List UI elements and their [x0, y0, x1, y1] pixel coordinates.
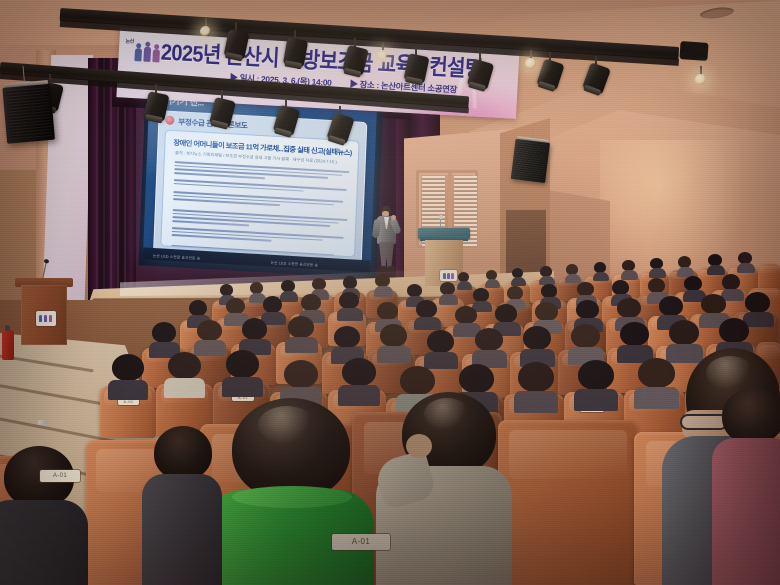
- audience-member-foreground-green: [214, 398, 364, 585]
- audience-member: [458, 272, 472, 288]
- audience-member: [242, 318, 271, 351]
- seat[interactable]: [498, 420, 638, 585]
- audience-member: [112, 354, 148, 394]
- audience-member: [152, 322, 180, 354]
- audience-member: [738, 252, 755, 271]
- seat[interactable]: [758, 264, 780, 290]
- audience-member: [427, 330, 458, 365]
- podium-emblem-icon: [440, 270, 457, 281]
- audience-member: [486, 270, 500, 286]
- audience-member: [566, 264, 581, 281]
- speaker-grille: [513, 141, 547, 180]
- city-logo-label: 논산: [125, 38, 134, 45]
- audience-member: [523, 326, 555, 362]
- speaker-cabinet: [2, 84, 55, 144]
- audience-member: [650, 258, 666, 276]
- audience-member: [226, 350, 263, 391]
- audience-member: [678, 256, 694, 274]
- seat-number-label: A-01: [333, 534, 389, 550]
- ceiling-light: [525, 58, 536, 69]
- audience-member: [375, 274, 393, 295]
- audience-member-foreground-far-right: [712, 388, 780, 585]
- seat-number-label: A-01: [41, 470, 79, 482]
- fire-extinguisher: [2, 330, 14, 360]
- ceiling-light-stem: [205, 18, 207, 26]
- audience-member: [540, 266, 555, 283]
- lectern-emblem-icon: [36, 311, 56, 326]
- audience-member: [416, 300, 441, 328]
- audience-member: [334, 326, 364, 360]
- audience-member: [380, 324, 411, 359]
- lectern-body: [21, 285, 67, 345]
- water-bottle: [38, 420, 47, 425]
- seat-number-plate: A-01: [40, 470, 80, 482]
- person-dark-jacket: [0, 500, 88, 585]
- seat-number-plate: A-01: [332, 534, 390, 550]
- speaker-cabinet: [511, 139, 550, 183]
- audience-member-foreground-left-mid: [146, 426, 216, 585]
- audience-member: [571, 324, 604, 361]
- presenter: [372, 206, 402, 272]
- person-maroon-top: [712, 438, 780, 585]
- person-head: [722, 388, 780, 444]
- person-head: [154, 426, 212, 480]
- audience-member: [475, 328, 507, 364]
- person-hand: [406, 434, 432, 458]
- audience-member: [512, 268, 526, 284]
- audience-member: [288, 316, 318, 350]
- person-jacket-collar: [232, 486, 352, 508]
- speaker-grille: [6, 87, 52, 140]
- floor-lectern: [18, 278, 70, 350]
- audience-member: [708, 254, 725, 273]
- audience-member: [342, 358, 380, 400]
- presenter-shoe-left: [379, 266, 386, 270]
- ceiling-light: [377, 50, 388, 61]
- ceiling-light: [695, 74, 706, 85]
- audience-member: [440, 282, 458, 303]
- audience-member: [594, 262, 609, 279]
- presenter-shoe-right: [388, 266, 395, 270]
- audience-member: [578, 360, 618, 404]
- presenter-trousers: [379, 242, 394, 268]
- lighting-truss-end-cap: [679, 41, 708, 61]
- audience-member: [638, 358, 679, 403]
- audience-member-foreground-beige: [380, 392, 506, 585]
- auditorium-photo: 들어가기 전... 부정수급 관련 언론보도 기사 장애인 어머니들이 보조금 …: [0, 0, 780, 585]
- person-dark-coat: [142, 474, 222, 585]
- audience-member-foreground-left: [0, 446, 82, 585]
- audience-member: [168, 352, 205, 393]
- audience-member: [620, 322, 653, 359]
- audience-member: [284, 360, 322, 402]
- audience-member: [197, 320, 226, 353]
- audience-member: [518, 362, 558, 406]
- presenter-hand: [391, 215, 396, 220]
- audience-member: [622, 260, 638, 278]
- ceiling-light: [200, 26, 211, 37]
- audience-member: [339, 292, 363, 319]
